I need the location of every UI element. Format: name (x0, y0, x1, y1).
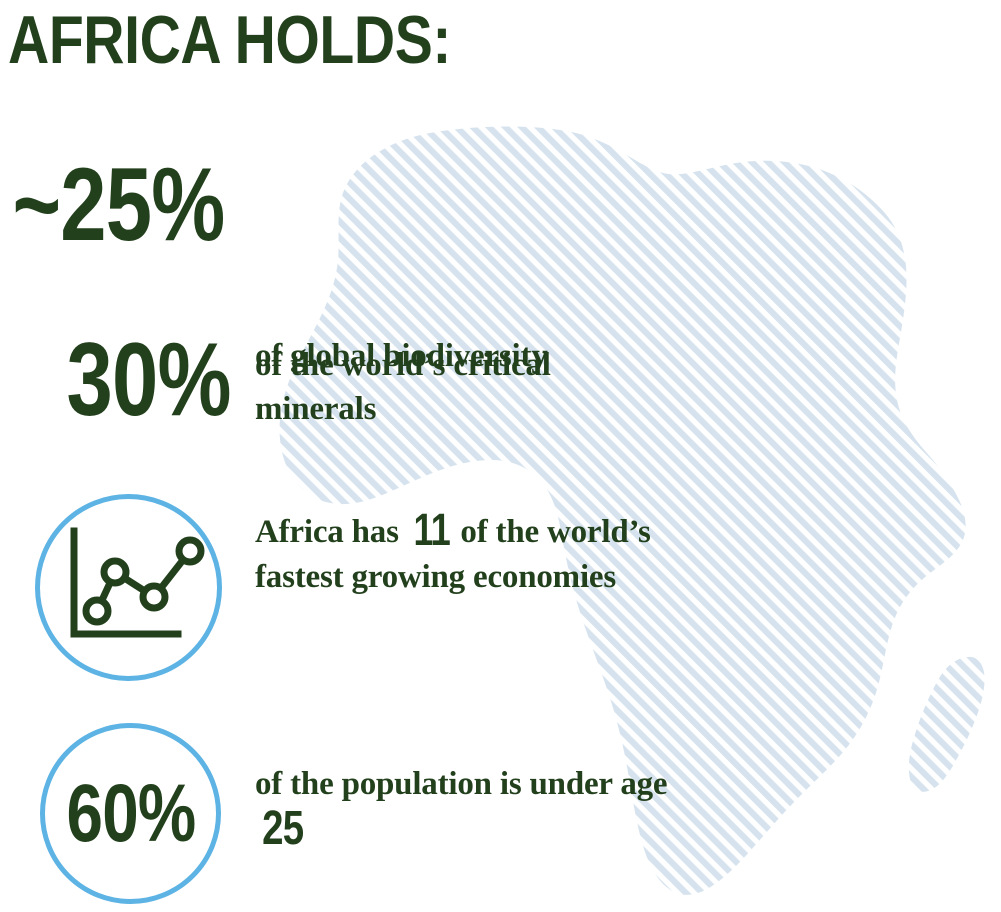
stat-population-age: 25 (262, 814, 303, 844)
page-title: AFRICA HOLDS: (8, 2, 451, 78)
population-percent-ring: 60% (40, 723, 221, 904)
chart-point-4 (179, 540, 201, 562)
stat-economies: Africa has 11 of the world’s fastest gro… (0, 490, 700, 690)
stat-population: 60% of the population is under age 25 (0, 720, 700, 912)
stat-minerals-number: 30% (67, 325, 231, 435)
stat-minerals-label: of the world’s critical minerals (255, 343, 655, 431)
stat-economies-number: 11 (413, 514, 449, 546)
line-chart-icon (35, 494, 222, 681)
chart-point-2 (104, 561, 126, 583)
africa-holds-infographic: AFRICA HOLDS: ~25% of global biodiversit… (0, 0, 1001, 912)
stat-population-label-prefix: of the population is under age (255, 766, 667, 802)
stat-minerals-label-line2: minerals (255, 391, 376, 427)
stat-minerals: 30% of the world’s critical minerals (0, 325, 660, 465)
stat-economies-label-prefix: Africa has (255, 514, 407, 550)
stat-population-label: of the population is under age 25 (255, 762, 675, 852)
stat-biodiversity-number: ~25% (12, 150, 224, 260)
stat-economies-label: Africa has 11 of the world’s fastest gro… (255, 510, 685, 600)
stat-minerals-label-line1: of the world’s critical (255, 347, 551, 383)
stat-population-number: 60% (66, 772, 195, 856)
stat-biodiversity: ~25% of global biodiversity (0, 150, 660, 270)
chart-point-3 (143, 586, 165, 608)
chart-point-1 (86, 600, 108, 622)
